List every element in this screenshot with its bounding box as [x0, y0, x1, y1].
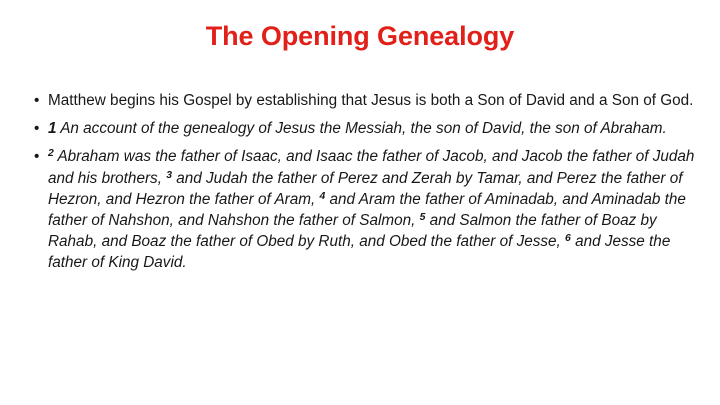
list-item-text: 1 An account of the genealogy of Jesus t…: [48, 118, 696, 139]
list-item[interactable]: • 2 Abraham was the father of Isaac, and…: [28, 146, 696, 273]
verse-body: An account of the genealogy of Jesus the…: [57, 120, 667, 137]
list-item-text: Matthew begins his Gospel by establishin…: [48, 90, 696, 111]
list-item[interactable]: • Matthew begins his Gospel by establish…: [28, 90, 696, 111]
slide-canvas: The Opening Genealogy • Matthew begins h…: [0, 0, 720, 405]
verse-number: 1: [48, 120, 57, 137]
bullet-dot-icon: •: [34, 146, 39, 167]
slide-body: • Matthew begins his Gospel by establish…: [28, 90, 696, 274]
list-item-text: 2 Abraham was the father of Isaac, and I…: [48, 146, 696, 273]
bullet-dot-icon: •: [34, 90, 39, 111]
bullet-dot-icon: •: [34, 118, 39, 139]
list-item[interactable]: • 1 An account of the genealogy of Jesus…: [28, 118, 696, 139]
page-title: The Opening Genealogy: [0, 22, 720, 52]
